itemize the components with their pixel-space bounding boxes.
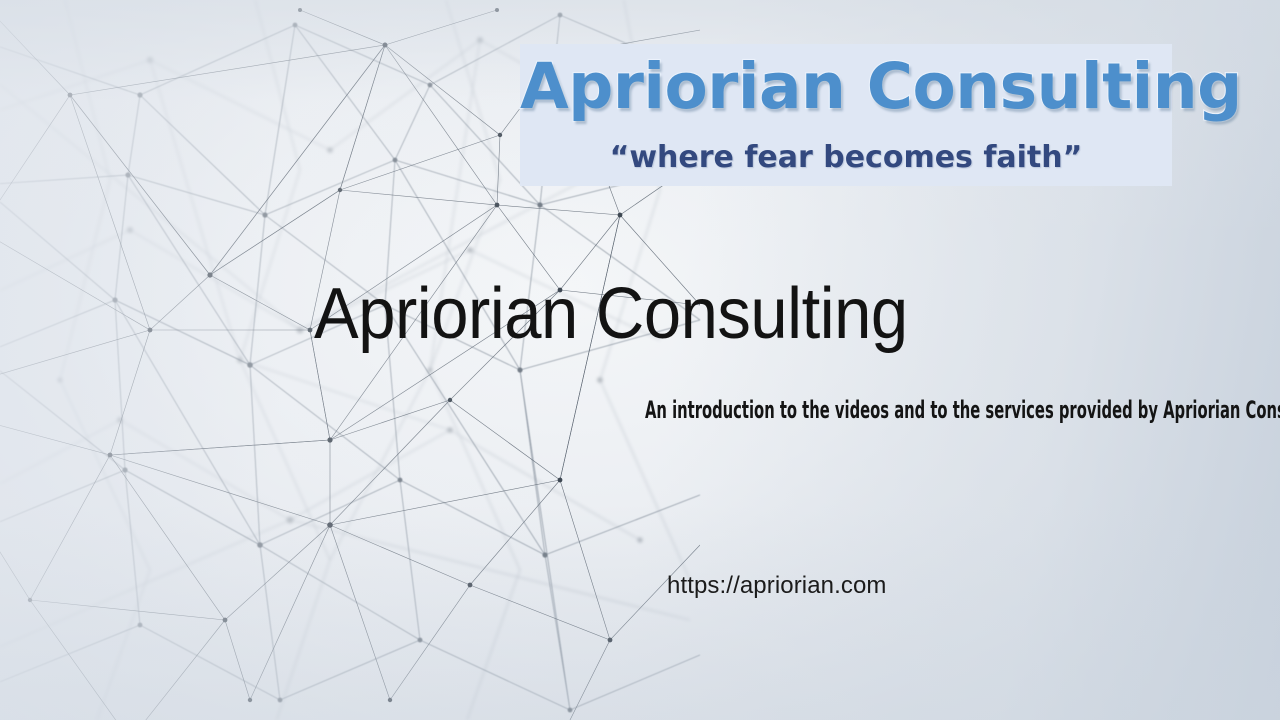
title-slide: Apriorian Consulting “where fear becomes… [0, 0, 1280, 720]
logo-banner: Apriorian Consulting “where fear becomes… [520, 44, 1172, 186]
slide-title: Apriorian Consulting [314, 278, 946, 350]
slide-subtitle: An introduction to the videos and to the… [645, 396, 1280, 424]
logo-wordmark: Apriorian Consulting [520, 50, 1172, 123]
website-url[interactable]: https://apriorian.com [667, 572, 887, 600]
logo-tagline: “where fear becomes faith” [520, 140, 1172, 175]
